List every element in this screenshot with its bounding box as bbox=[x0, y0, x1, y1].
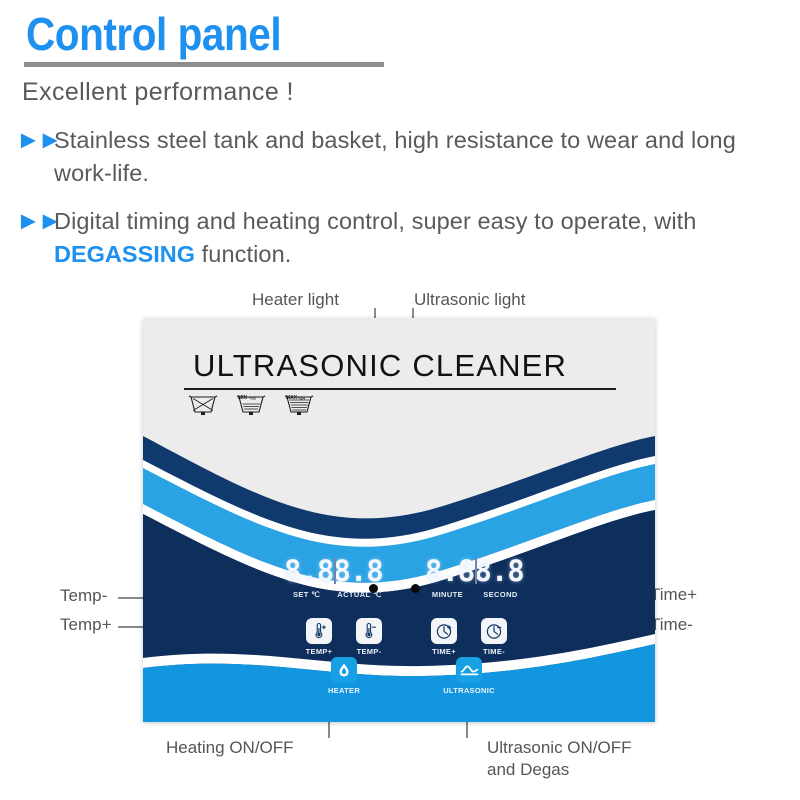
time-display-divider bbox=[475, 558, 477, 584]
callout-heating-on-off: Heating ON/OFF bbox=[166, 737, 294, 759]
bullet-text-after: function. bbox=[195, 241, 291, 267]
min-label: MIN bbox=[238, 395, 248, 401]
feature-bullet-text: Stainless steel tank and basket, high re… bbox=[54, 124, 796, 190]
double-chevron-icon: ►► bbox=[16, 205, 54, 232]
header-section: Control panel Excellent performance ! ►►… bbox=[0, 0, 800, 285]
tank-level-pictograms: MIN ≈1/2 MAX ≈3/4 bbox=[185, 390, 335, 422]
callout-ultrasonic-light: Ultrasonic light bbox=[414, 289, 526, 311]
temp-minus-button[interactable] bbox=[356, 618, 382, 644]
heater-indicator-light bbox=[369, 584, 378, 593]
clock-minus-icon bbox=[485, 622, 504, 641]
clock-plus-icon bbox=[435, 622, 454, 641]
thermometer-plus-icon bbox=[310, 622, 328, 640]
time-plus-button-label: TIME+ bbox=[416, 647, 472, 656]
max-label: MAX bbox=[286, 395, 298, 401]
temp-plus-button[interactable] bbox=[306, 618, 332, 644]
empty-tank-forbidden-icon bbox=[189, 396, 217, 415]
callout-ultrasonic-on-off: Ultrasonic ON/OFF and Degas bbox=[487, 737, 632, 781]
control-panel-device: ULTRASONIC CLEANER MIN bbox=[143, 318, 655, 722]
heater-button-label: HEATER bbox=[316, 686, 372, 695]
ultrasonic-button[interactable] bbox=[456, 657, 482, 683]
heater-button[interactable] bbox=[331, 657, 357, 683]
temperature-display-divider bbox=[334, 558, 336, 584]
min-sub-label: ≈1/2 bbox=[249, 396, 256, 400]
page-title: Control panel bbox=[26, 8, 281, 60]
thermometer-minus-icon bbox=[360, 622, 378, 640]
time-minus-button-label: TIME- bbox=[466, 647, 522, 656]
callout-time-minus: Time- bbox=[650, 614, 693, 636]
panel-title: ULTRASONIC CLEANER bbox=[193, 348, 567, 384]
panel-wave-artwork bbox=[143, 422, 655, 722]
time-display-labels: MINUTE SECOND bbox=[421, 590, 527, 599]
temp-plus-button-label: TEMP+ bbox=[291, 647, 347, 656]
feature-bullet: ►► Digital timing and heating control, s… bbox=[16, 205, 796, 271]
temp-minus-button-label: TEMP- bbox=[341, 647, 397, 656]
time-plus-button[interactable] bbox=[431, 618, 457, 644]
tagline: Excellent performance ! bbox=[22, 78, 294, 107]
label-second: SECOND bbox=[474, 590, 527, 599]
ultrasonic-button-label: ULTRASONIC bbox=[431, 686, 507, 695]
feature-bullet-text: Digital timing and heating control, supe… bbox=[54, 205, 796, 271]
callout-temp-plus: Temp+ bbox=[60, 614, 112, 636]
max-sub-label: ≈3/4 bbox=[298, 396, 305, 400]
bullet-text-before: Digital timing and heating control, supe… bbox=[54, 208, 696, 234]
bullet-emphasis-degassing: DEGASSING bbox=[54, 241, 195, 267]
time-minus-button[interactable] bbox=[481, 618, 507, 644]
callout-heater-light: Heater light bbox=[252, 289, 339, 311]
double-chevron-icon: ►► bbox=[16, 124, 54, 151]
title-underline-rule bbox=[24, 62, 384, 67]
feature-bullet: ►► Stainless steel tank and basket, high… bbox=[16, 124, 796, 190]
water-drop-icon bbox=[336, 662, 352, 678]
label-set-celsius: SET ℃ bbox=[280, 590, 333, 599]
ultrasonic-indicator-light bbox=[411, 584, 420, 593]
label-minute: MINUTE bbox=[421, 590, 474, 599]
label-actual-celsius: ACTUAL ℃ bbox=[333, 590, 386, 599]
callout-time-plus: Time+ bbox=[650, 584, 697, 606]
sound-wave-icon bbox=[460, 662, 479, 678]
callout-temp-minus: Temp- bbox=[60, 585, 107, 607]
